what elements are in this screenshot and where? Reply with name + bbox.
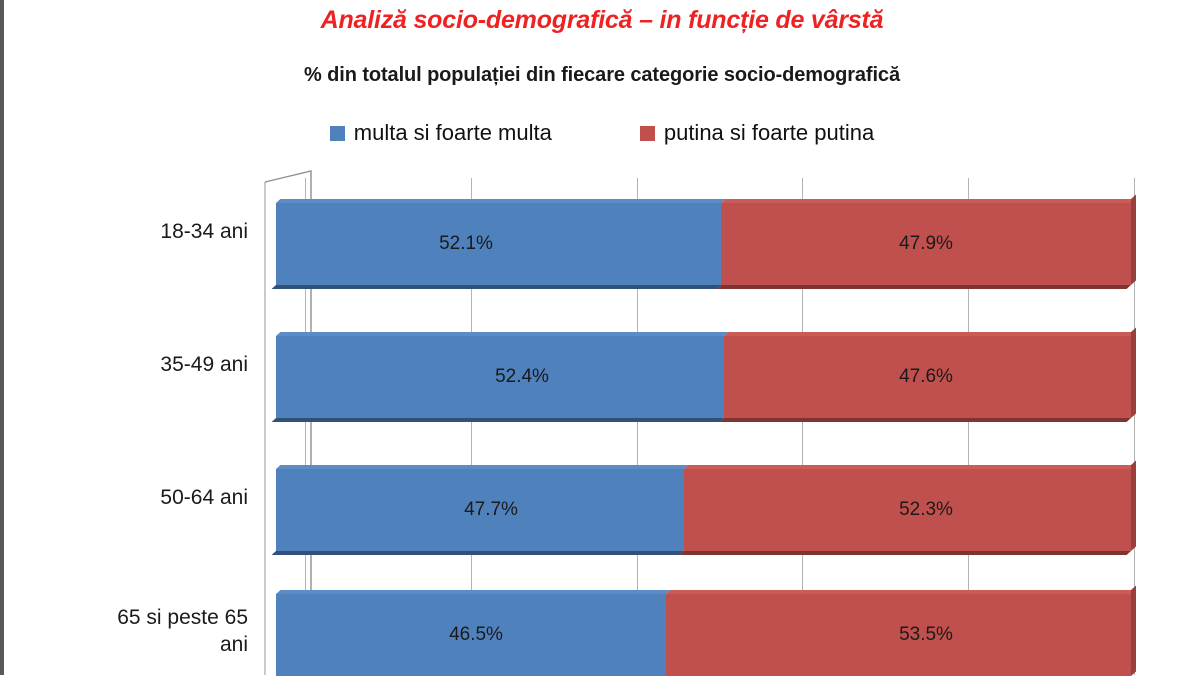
slide-canvas: Analiză socio-demografică – in funcție d… xyxy=(4,0,1200,675)
legend-label-multa: multa si foarte multa xyxy=(354,120,552,146)
legend-item-putina[interactable]: putina si foarte putina xyxy=(640,120,874,146)
category-label-18-34: 18-34 ani xyxy=(38,218,248,245)
category-label-65-plus: 65 si peste 65 ani xyxy=(38,604,248,658)
plot-area: 52.1% 47.9% 52.4% 47.6% xyxy=(259,170,1200,675)
chart-title: Analiză socio-demografică – in funcție d… xyxy=(4,6,1200,35)
bars-layer: 52.1% 47.9% 52.4% 47.6% xyxy=(259,170,1200,675)
bar-end-cap-r2 xyxy=(1131,460,1136,551)
bar-end-cap-r3 xyxy=(1131,585,1136,676)
category-axis-labels: 18-34 ani 35-49 ani 50-64 ani 65 si pest… xyxy=(24,170,248,675)
category-label-35-49-line1: 35-49 ani xyxy=(160,353,248,376)
bar-value-blue-r0: 52.1% xyxy=(406,203,526,285)
table-row[interactable]: 52.1% 47.9% xyxy=(276,203,1131,285)
bar-value-blue-r1: 52.4% xyxy=(462,336,582,418)
category-label-35-49: 35-49 ani xyxy=(38,351,248,378)
bar-value-red-r3: 53.5% xyxy=(866,594,986,676)
category-label-65-plus-line2: ani xyxy=(220,633,248,656)
legend-swatch-blue-icon xyxy=(330,126,345,141)
bar-value-red-r1: 47.6% xyxy=(866,336,986,418)
legend-swatch-red-icon xyxy=(640,126,655,141)
table-row[interactable]: 52.4% 47.6% xyxy=(276,336,1131,418)
bar-value-red-r2: 52.3% xyxy=(866,469,986,551)
table-row[interactable]: 46.5% 53.5% xyxy=(276,594,1131,676)
chart-subtitle: % din totalul populației din fiecare cat… xyxy=(4,64,1200,87)
category-label-50-64: 50-64 ani xyxy=(38,484,248,511)
category-label-65-plus-line1: 65 si peste 65 xyxy=(117,606,248,629)
legend-label-putina: putina si foarte putina xyxy=(664,120,874,146)
legend-item-multa[interactable]: multa si foarte multa xyxy=(330,120,552,146)
bar-end-cap-r1 xyxy=(1131,327,1136,418)
category-label-18-34-line1: 18-34 ani xyxy=(160,220,248,243)
bar-value-blue-r2: 47.7% xyxy=(431,469,551,551)
bar-end-cap-r0 xyxy=(1131,194,1136,285)
chart-legend: multa si foarte multa putina si foarte p… xyxy=(4,120,1200,146)
bar-value-red-r0: 47.9% xyxy=(866,203,986,285)
table-row[interactable]: 47.7% 52.3% xyxy=(276,469,1131,551)
bar-value-blue-r3: 46.5% xyxy=(416,594,536,676)
category-label-50-64-line1: 50-64 ani xyxy=(160,486,248,509)
